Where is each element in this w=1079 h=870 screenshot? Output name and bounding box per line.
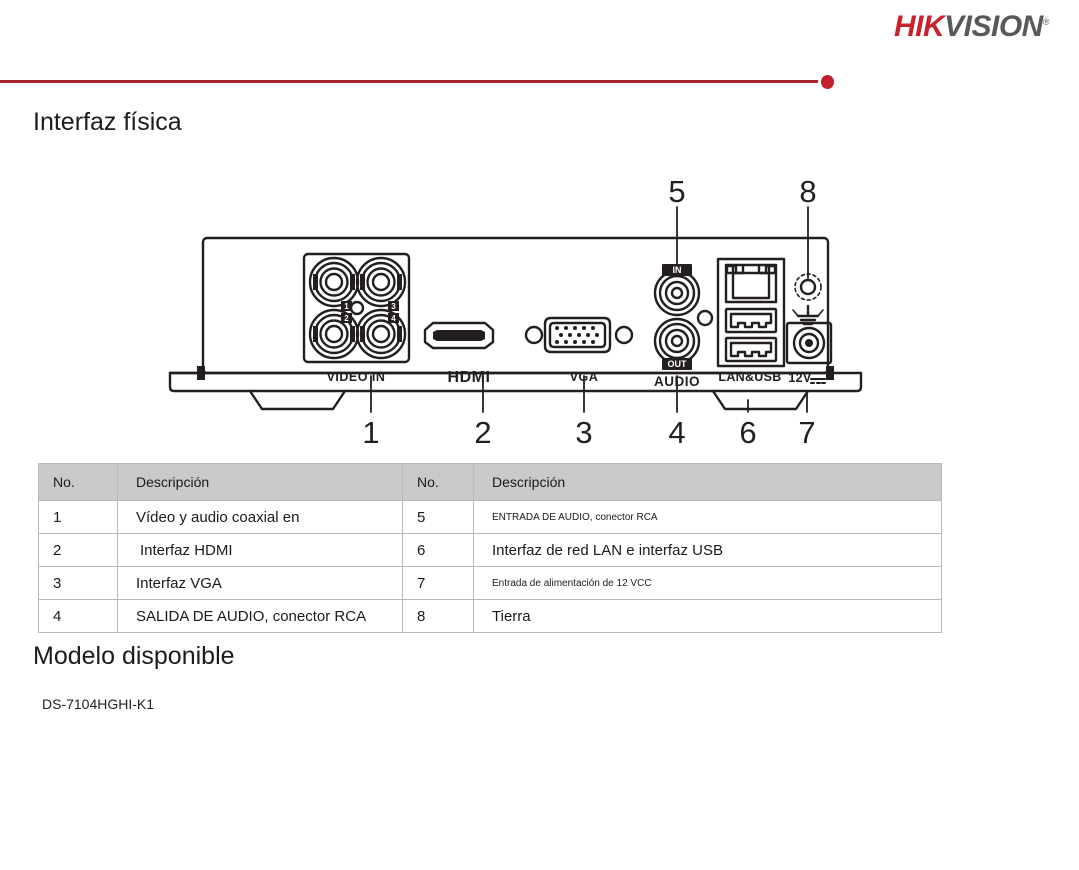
bnc-number-3: 3: [391, 302, 396, 311]
cell-desc-1: Vídeo y audio coaxial en: [118, 501, 403, 534]
cell-no-7: 7: [403, 567, 474, 600]
divider-line: [0, 80, 818, 83]
bnc-connector-3: [357, 258, 405, 306]
cell-no-1: 1: [39, 501, 118, 534]
vga-connector: [526, 318, 632, 352]
cell-no-6: 6: [403, 534, 474, 567]
column-header-no-left: No.: [39, 464, 118, 501]
logo-text-vision: VISION: [944, 10, 1043, 43]
cell-no-8: 8: [403, 600, 474, 633]
usb-port-bottom: [726, 338, 776, 361]
cell-desc-5: ENTRADA DE AUDIO, conector RCA: [474, 501, 942, 534]
port-label-lan-usb: LAN&USB: [718, 370, 781, 384]
bnc-number-4: 4: [391, 314, 396, 323]
callout-number-6: 6: [739, 415, 756, 450]
column-header-desc-left: Descripción: [118, 464, 403, 501]
bnc-number-2: 2: [344, 314, 349, 323]
cell-desc-2: Interfaz HDMI: [118, 534, 403, 567]
bnc-number-1: 1: [344, 302, 349, 311]
table-row: 1 Vídeo y audio coaxial en 5 ENTRADA DE …: [39, 501, 942, 534]
bnc-connector-1: [310, 258, 358, 306]
model-number-value: DS-7104HGHI-K1: [42, 696, 154, 712]
page-title-physical-interface: Interfaz física: [33, 108, 182, 137]
ground-terminal: [793, 274, 823, 324]
cell-desc-7: Entrada de alimentación de 12 VCC: [474, 567, 942, 600]
cell-no-5: 5: [403, 501, 474, 534]
table-row: 3 Interfaz VGA 7 Entrada de alimentación…: [39, 567, 942, 600]
audio-in-rca-connector: [655, 271, 699, 315]
callout-number-2: 2: [474, 415, 491, 450]
cell-desc-8: Tierra: [474, 600, 942, 633]
usb-port-top: [726, 309, 776, 332]
table-row: 4 SALIDA DE AUDIO, conector RCA 8 Tierra: [39, 600, 942, 633]
port-label-vga: VGA: [570, 370, 599, 384]
cell-no-2: 2: [39, 534, 118, 567]
device-rear-panel-diagram: VIDEO IN HDMI VGA AUDIO LAN&USB 12V IN O…: [0, 160, 1000, 455]
cell-no-3: 3: [39, 567, 118, 600]
callout-number-5: 5: [668, 174, 685, 209]
audio-in-label: IN: [673, 265, 682, 275]
table-header-row: No. Descripción No. Descripción: [39, 464, 942, 501]
logo-text-hik: HIK: [894, 10, 944, 43]
header-divider: [0, 74, 1079, 92]
audio-out-label: OUT: [668, 359, 688, 369]
dc-symbol-icon: [811, 379, 825, 383]
cell-no-4: 4: [39, 600, 118, 633]
rear-panel-illustration: VIDEO IN HDMI VGA AUDIO LAN&USB 12V IN O…: [0, 160, 1000, 455]
table-row: 2 Interfaz HDMI 6 Interfaz de red LAN e …: [39, 534, 942, 567]
column-header-desc-right: Descripción: [474, 464, 942, 501]
section-title-available-model: Modelo disponible: [33, 642, 235, 671]
callout-number-8: 8: [799, 174, 816, 209]
port-label-12v: 12V: [788, 371, 812, 385]
registered-mark-icon: ®: [1043, 17, 1049, 27]
hdmi-connector: [425, 323, 493, 348]
cell-desc-4: SALIDA DE AUDIO, conector RCA: [118, 600, 403, 633]
lan-usb-block: [718, 259, 784, 366]
callout-number-4: 4: [668, 415, 685, 450]
callout-number-3: 3: [575, 415, 592, 450]
audio-out-rca-connector: [655, 319, 699, 363]
divider-dot-icon: [821, 75, 834, 89]
callout-number-1: 1: [362, 415, 379, 450]
column-header-no-right: No.: [403, 464, 474, 501]
rj45-lan-port: [726, 265, 776, 302]
power-jack-12v: [787, 323, 831, 363]
chassis-foot-right: [713, 391, 808, 409]
port-description-table: No. Descripción No. Descripción 1 Vídeo …: [38, 463, 942, 633]
port-label-audio: AUDIO: [654, 374, 700, 389]
callout-number-7: 7: [798, 415, 815, 450]
chassis-foot-left: [250, 391, 345, 409]
cell-desc-3: Interfaz VGA: [118, 567, 403, 600]
cell-desc-6: Interfaz de red LAN e interfaz USB: [474, 534, 942, 567]
port-label-video-in: VIDEO IN: [327, 370, 386, 384]
hikvision-logo: HIKVISION®: [894, 12, 1049, 42]
port-label-hdmi: HDMI: [448, 369, 491, 386]
